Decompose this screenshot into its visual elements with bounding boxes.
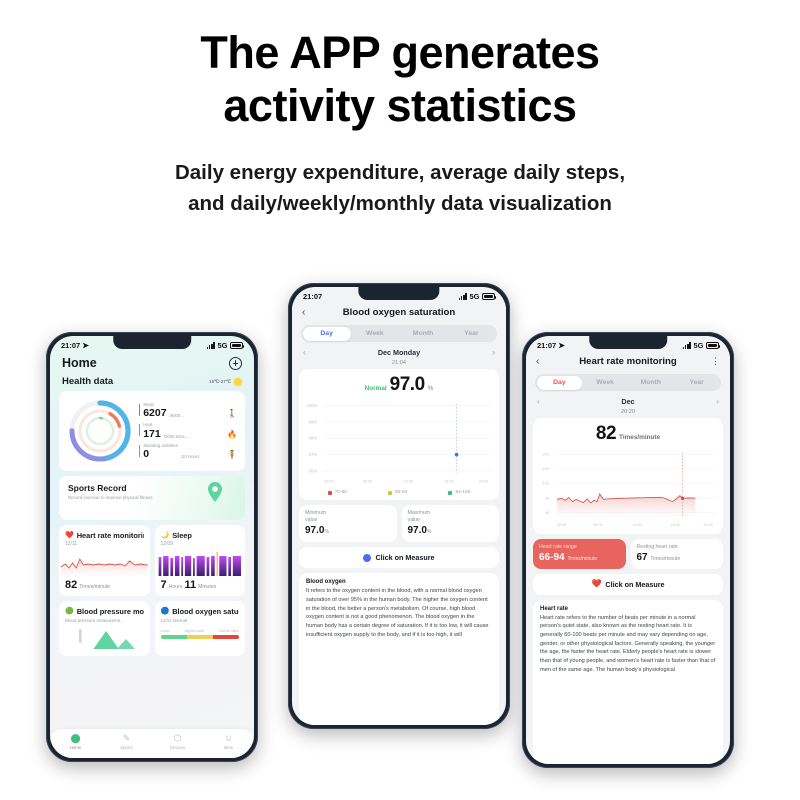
sports-icon: ✎ <box>123 734 131 743</box>
card-value-hours: 7 <box>161 579 167 591</box>
phone-right-screen: 21:07 ➤ 5G ‹ Heart rate monitoring ⋮ Da <box>526 336 730 764</box>
segment-month[interactable]: Month <box>399 327 447 341</box>
reading-row: 82 Times/minute <box>533 422 723 447</box>
health-data-header: Health data 16℃-27℃ <box>50 376 254 391</box>
weather-temp: 16℃-27℃ <box>209 379 231 385</box>
blood-pressure-card[interactable]: 🟢 Blood pressure mor Blood pressure meas… <box>59 601 150 656</box>
next-date-button[interactable]: › <box>716 397 719 406</box>
card-unit-minutes: Minutes <box>198 584 216 590</box>
card-title: Blood oxygen satur <box>172 607 239 616</box>
measure-icon <box>363 554 371 562</box>
metric-steps: Steps 6207 /6000... 🚶 <box>139 402 237 419</box>
sleep-bar-chart <box>155 550 246 576</box>
phone-middle-screen: 21:07 5G ‹ Blood oxygen saturation Day W <box>292 287 506 725</box>
metric-goal: /10 Hours <box>181 454 200 460</box>
legend-item-low: 70-90 <box>328 490 347 495</box>
reading-unit: % <box>428 385 434 392</box>
svg-text:120: 120 <box>542 482 548 486</box>
blood-pressure-icon: 🟢 <box>65 608 74 615</box>
seg-green <box>161 635 187 639</box>
next-date-button[interactable]: › <box>492 348 495 357</box>
svg-text:200: 200 <box>542 453 548 457</box>
info-text: Heart rate refers to the number of beats… <box>540 614 716 675</box>
reading-value: 97.0 <box>390 374 425 396</box>
standing-icon: 🧍 <box>227 451 237 460</box>
svg-text:18:00: 18:00 <box>444 479 454 483</box>
minimum-number: 97.0 <box>305 525 324 536</box>
tab-mine[interactable]: ☺ Mine <box>203 734 254 750</box>
person-icon: ☺ <box>224 734 233 743</box>
legend-swatch <box>388 491 392 495</box>
sun-icon <box>234 378 242 386</box>
bottom-tab-bar: ⬤ Home ✎ Sports ⬡ Devices ☺ Mine <box>50 729 254 758</box>
legend-label: 94-100 <box>455 490 470 495</box>
moon-icon: 🌙 <box>161 532 170 539</box>
metric-accent-bar <box>139 424 140 436</box>
phone-left-screen: 21:07 ➤ 5G Home Health data <box>50 336 254 758</box>
maximum-value: 97.0% <box>408 525 494 536</box>
activity-rings-card[interactable]: Steps 6207 /6000... 🚶 Heat <box>59 391 245 471</box>
headline-line-1: The APP generates <box>0 26 800 79</box>
period-segmented-control[interactable]: Day Week Month Year <box>301 325 497 342</box>
screen-title: Heart rate monitoring <box>579 356 677 367</box>
metric-goal: /2000 Kiloc... <box>164 434 189 440</box>
home-header: Home <box>50 352 254 376</box>
screen-title: Blood oxygen saturation <box>343 307 455 318</box>
blood-oxygen-range-bar: Lower Slightly lower Normal value <box>155 623 246 639</box>
back-icon[interactable]: ‹ <box>302 307 312 318</box>
svg-text:100%: 100% <box>307 403 318 408</box>
maximum-label-line2: value <box>408 517 494 524</box>
page-subtitle: Daily energy expenditure, average daily … <box>0 158 800 220</box>
card-unit: Times/minute <box>79 584 110 590</box>
signal-icon <box>459 293 467 300</box>
metric-value: 6207 <box>143 408 166 419</box>
more-menu-icon[interactable]: ⋮ <box>710 356 720 367</box>
seg-label-low: Lower <box>161 629 170 633</box>
card-date: 12/11 <box>59 540 150 547</box>
nav-bar: ‹ Heart rate monitoring ⋮ <box>526 352 730 374</box>
blood-oxygen-plot: 100% 99% 98% 97% 96% 00:00 06:00 <box>299 398 499 486</box>
heart-rate-chart-card: 82 Times/minute <box>533 418 723 534</box>
metric-standing: Standing activities 0 /10 Hours 🧍 <box>139 443 237 460</box>
card-date: 12/09 <box>155 540 246 547</box>
reading-unit: Times/minute <box>619 434 660 441</box>
activity-rings <box>67 398 133 464</box>
heart-rate-summary-cards: Heart rate range 66-94 Times/minute Rest… <box>533 539 723 569</box>
notch <box>589 336 667 349</box>
blood-pressure-illustration <box>59 627 150 651</box>
signal-icon <box>207 342 215 349</box>
heart-icon: ❤️ <box>65 532 74 539</box>
page-title: The APP generates activity statistics <box>0 0 800 132</box>
svg-text:12:00: 12:00 <box>633 523 642 527</box>
metric-accent-bar <box>139 445 140 457</box>
legend-swatch <box>328 491 332 495</box>
svg-text:24:00: 24:00 <box>704 523 713 527</box>
heart-rate-range-card: Heart rate range 66-94 Times/minute <box>533 539 626 569</box>
seg-red <box>213 635 239 639</box>
phone-left: 21:07 ➤ 5G Home Health data <box>46 332 258 762</box>
card-subtitle: Blood pressure measureme... <box>59 616 150 623</box>
card-subtitle: 12/11 Normal <box>155 616 246 623</box>
range-unit: Times/minute <box>567 556 597 562</box>
resting-number: 67 <box>637 552 648 563</box>
svg-text:96%: 96% <box>309 468 318 473</box>
summary-cards-row-2: 🟢 Blood pressure mor Blood pressure meas… <box>59 601 245 656</box>
notch <box>358 287 439 300</box>
metric-heat: Heat 171 /2000 Kiloc... 🔥 <box>139 422 237 439</box>
prev-date-button[interactable]: ‹ <box>303 348 306 357</box>
svg-text:160: 160 <box>542 467 548 471</box>
maximum-number: 97.0 <box>408 525 427 536</box>
resting-value: 67 Times/minute <box>637 552 718 563</box>
reading-timestamp: 21:04 <box>292 359 506 366</box>
metric-goal: /6000... <box>170 413 184 419</box>
status-badge: Normal <box>365 385 387 392</box>
measure-button[interactable]: Click on Measure <box>299 547 499 568</box>
legend-item-mid: 90-94 <box>388 490 407 495</box>
tab-home[interactable]: ⬤ Home <box>50 734 101 750</box>
seg-yellow <box>187 635 213 639</box>
card-title: Sleep <box>172 531 192 540</box>
battery-icon <box>230 342 243 349</box>
location-arrow-icon: ➤ <box>82 341 89 350</box>
minimum-unit: % <box>324 529 328 535</box>
segment-year[interactable]: Year <box>674 376 720 390</box>
reading-value: 82 <box>596 423 616 445</box>
network-label: 5G <box>469 292 479 301</box>
health-data-title: Health data <box>62 376 113 387</box>
info-title: Blood oxygen <box>306 579 492 585</box>
measure-label: Click on Measure <box>375 553 434 562</box>
tab-label: Devices <box>170 745 186 750</box>
poster: The APP generates activity statistics Da… <box>0 0 800 800</box>
battery-icon <box>706 342 719 349</box>
seg-label-mid: Slightly lower <box>184 629 204 633</box>
phone-middle: 21:07 5G ‹ Blood oxygen saturation Day W <box>288 283 510 729</box>
heart-rate-sparkline <box>59 550 150 576</box>
svg-text:00:00: 00:00 <box>557 523 566 527</box>
tab-sports[interactable]: ✎ Sports <box>101 734 152 750</box>
minimum-value: 97.0% <box>305 525 391 536</box>
sleep-card[interactable]: 🌙 Sleep 12/09 <box>155 525 246 596</box>
segment-week[interactable]: Week <box>351 327 399 341</box>
chart-legend: 70-90 90-94 94-100 <box>299 486 499 497</box>
heart-rate-plot: 200 160 120 80 40 00:00 <box>533 447 723 531</box>
svg-text:12:00: 12:00 <box>404 479 414 483</box>
tab-label: Mine <box>224 745 234 750</box>
back-icon[interactable]: ‹ <box>536 356 546 367</box>
reading-row: Normal 97.0 % <box>299 373 499 398</box>
segment-year[interactable]: Year <box>447 327 495 341</box>
network-label: 5G <box>693 341 703 350</box>
metric-value: 0 <box>143 449 178 460</box>
segment-week[interactable]: Week <box>582 376 628 390</box>
segment-month[interactable]: Month <box>628 376 674 390</box>
location-arrow-icon: ➤ <box>558 341 565 350</box>
heart-icon: ❤️ <box>591 580 601 588</box>
signal-icon <box>683 342 691 349</box>
info-title: Heart rate <box>540 606 716 612</box>
min-max-cards: Minimum value 97.0% Maximum value 97.0% <box>299 505 499 542</box>
info-text: It refers to the oxygen content in the b… <box>306 587 492 639</box>
legend-item-high: 94-100 <box>448 490 470 495</box>
seg-label-high: Normal value <box>219 629 239 633</box>
current-date-label: Dec Monday <box>378 348 420 357</box>
range-number: 66-94 <box>539 552 565 563</box>
metric-accent-bar <box>139 404 140 416</box>
segment-day[interactable]: Day <box>303 327 351 341</box>
weather-widget: 16℃-27℃ <box>209 378 242 386</box>
tab-devices[interactable]: ⬡ Devices <box>152 734 203 750</box>
svg-text:18:00: 18:00 <box>671 523 680 527</box>
resting-label: Resting heart rate <box>637 544 718 551</box>
minimum-label-line2: value <box>305 517 391 524</box>
phone-right: 21:07 ➤ 5G ‹ Heart rate monitoring ⋮ Da <box>522 332 734 768</box>
home-title: Home <box>62 356 97 370</box>
minimum-label-line1: Minimum <box>305 510 391 517</box>
period-segmented-control[interactable]: Day Week Month Year <box>535 374 721 391</box>
heart-rate-card[interactable]: ❤️ Heart rate monitorin 12/11 <box>59 525 150 596</box>
svg-text:99%: 99% <box>309 419 318 424</box>
subhead-line-1: Daily energy expenditure, average daily … <box>0 158 800 189</box>
card-title: Blood pressure mor <box>77 607 144 616</box>
svg-text:97%: 97% <box>309 452 318 457</box>
blood-oxygen-card[interactable]: 🔵 Blood oxygen satur 12/11 Normal Lower … <box>155 601 246 656</box>
card-title: Heart rate monitorin <box>77 531 144 540</box>
info-panel: Heart rate Heart rate refers to the numb… <box>533 600 723 764</box>
maximum-label-line1: Maximum <box>408 510 494 517</box>
svg-text:00:00: 00:00 <box>324 479 334 483</box>
battery-icon <box>482 293 495 300</box>
prev-date-button[interactable]: ‹ <box>537 397 540 406</box>
status-time: 21:07 <box>303 292 322 301</box>
svg-text:98%: 98% <box>309 436 318 441</box>
metric-list: Steps 6207 /6000... 🚶 Heat <box>139 402 237 459</box>
svg-text:24:00: 24:00 <box>479 479 489 483</box>
card-unit-hours: Hours <box>169 584 183 590</box>
svg-text:40: 40 <box>545 511 549 515</box>
headline-line-2: activity statistics <box>0 79 800 132</box>
home-screen: 21:07 ➤ 5G Home Health data <box>50 336 254 758</box>
measure-label: Click on Measure <box>605 580 664 589</box>
nav-bar: ‹ Blood oxygen saturation <box>292 303 506 325</box>
tab-label: Home <box>70 745 82 750</box>
svg-text:06:00: 06:00 <box>593 523 602 527</box>
range-label: Heart rate range <box>539 544 620 551</box>
tab-label: Sports <box>120 745 133 750</box>
legend-swatch <box>448 491 452 495</box>
legend-label: 90-94 <box>395 490 407 495</box>
subhead-line-2: and daily/weekly/monthly data visualizat… <box>0 189 800 220</box>
notch <box>113 336 191 349</box>
summary-cards-row-1: ❤️ Heart rate monitorin 12/11 <box>59 525 245 596</box>
devices-icon: ⬡ <box>174 734 182 743</box>
blood-oxygen-icon: 🔵 <box>161 608 170 615</box>
card-value: 82 <box>65 579 77 591</box>
blood-oxygen-chart-card: Normal 97.0 % <box>299 369 499 500</box>
card-value-minutes: 11 <box>184 579 196 591</box>
date-selector: ‹ Dec › <box>526 391 730 408</box>
heart-rate-screen: 21:07 ➤ 5G ‹ Heart rate monitoring ⋮ Da <box>526 336 730 764</box>
svg-text:80: 80 <box>545 496 549 500</box>
reading-timestamp: 20:20 <box>526 408 730 415</box>
resting-unit: Times/minute <box>650 556 680 562</box>
metric-value: 171 <box>143 429 161 440</box>
sports-record-card[interactable]: Sports Record Record exercise to improve… <box>59 476 245 520</box>
home-icon: ⬤ <box>70 734 80 743</box>
measure-button[interactable]: ❤️ Click on Measure <box>533 574 723 595</box>
current-date-label: Dec <box>621 397 634 406</box>
status-time: 21:07 <box>61 341 80 350</box>
map-pin-icon <box>207 482 223 502</box>
info-panel: Blood oxygen It refers to the oxygen con… <box>299 573 499 725</box>
blood-oxygen-screen: 21:07 5G ‹ Blood oxygen saturation Day W <box>292 287 506 725</box>
maximum-unit: % <box>427 529 431 535</box>
segment-day[interactable]: Day <box>537 376 583 390</box>
svg-text:06:00: 06:00 <box>363 479 373 483</box>
walking-icon: 🚶 <box>227 410 237 419</box>
date-selector: ‹ Dec Monday › <box>292 342 506 359</box>
range-value: 66-94 Times/minute <box>539 552 620 563</box>
add-button[interactable] <box>229 357 242 370</box>
status-time: 21:07 <box>537 341 556 350</box>
maximum-value-card: Maximum value 97.0% <box>402 505 500 542</box>
minimum-value-card: Minimum value 97.0% <box>299 505 397 542</box>
flame-icon: 🔥 <box>227 431 237 440</box>
legend-label: 70-90 <box>335 490 347 495</box>
resting-heart-rate-card: Resting heart rate 67 Times/minute <box>631 539 724 569</box>
network-label: 5G <box>217 341 227 350</box>
